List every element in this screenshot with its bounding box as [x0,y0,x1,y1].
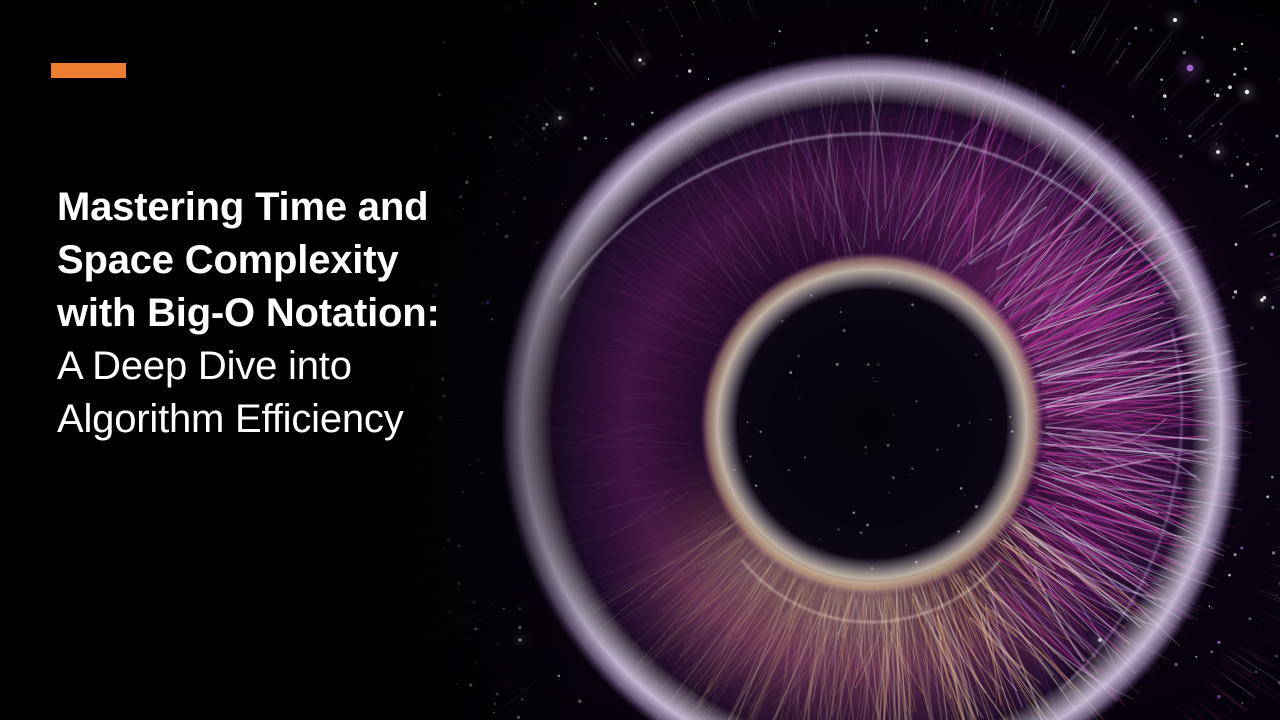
accent-bar [51,63,126,78]
title-line-2: Space Complexity [57,234,487,287]
page-title: Mastering Time and Space Complexity with… [57,181,487,446]
title-line-5: Algorithm Efficiency [57,393,487,446]
title-line-3: with Big-O Notation: [57,287,487,340]
title-line-1: Mastering Time and [57,181,487,234]
slide-content: Mastering Time and Space Complexity with… [0,0,1280,720]
presentation-slide: Mastering Time and Space Complexity with… [0,0,1280,720]
title-line-4: A Deep Dive into [57,340,487,393]
